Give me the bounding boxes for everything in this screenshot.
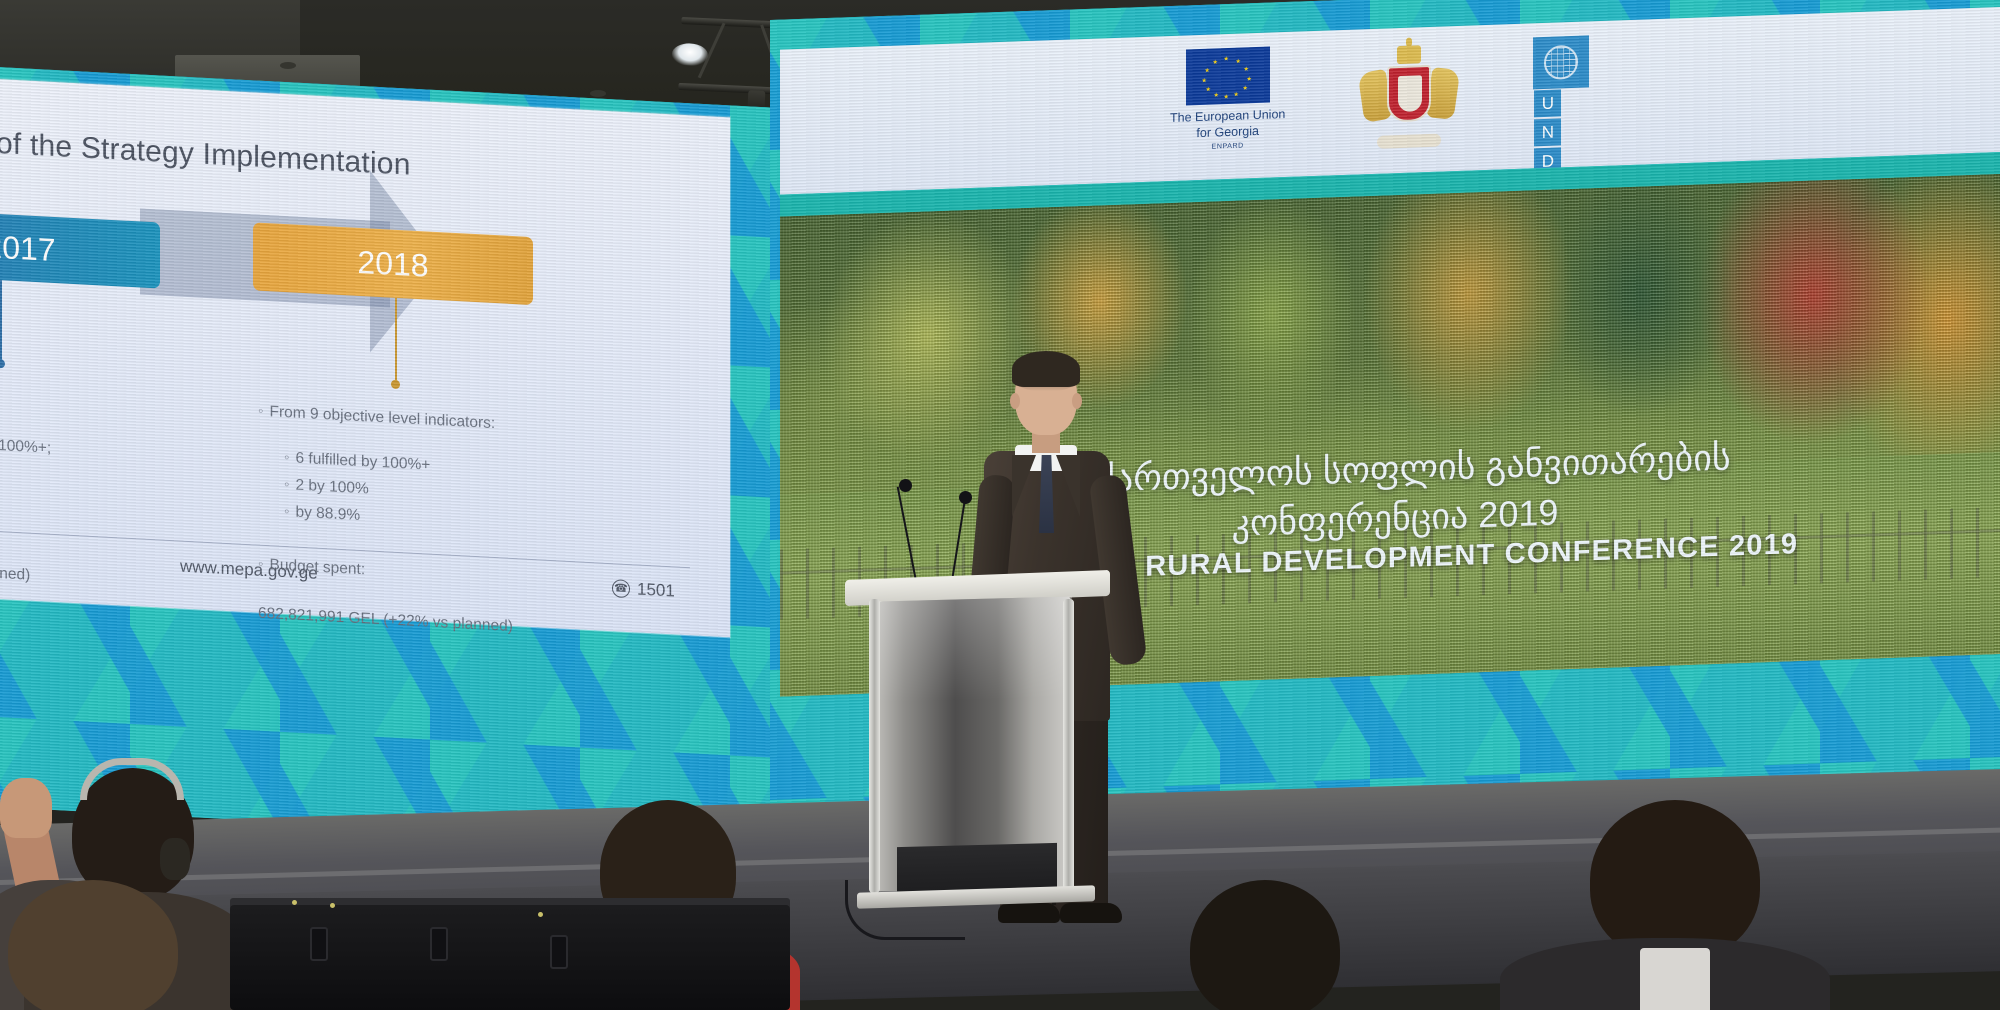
podium-cable (845, 880, 965, 940)
hotline: ☎ 1501 (612, 578, 675, 601)
connector-dot-2018 (391, 380, 400, 389)
microphone-head-left (899, 479, 912, 492)
console-indicator-icon (292, 900, 297, 905)
year-label-2018: 2018 (357, 243, 428, 284)
list-item: From 9 objective level indicators: (258, 398, 638, 445)
head (1190, 880, 1340, 1010)
console-clip (310, 927, 328, 961)
connector-dot-2017 (0, 359, 5, 368)
head (8, 880, 178, 1010)
head (1590, 800, 1760, 960)
ear-left (1010, 393, 1020, 409)
enpard-label: ENPARD (1170, 141, 1285, 152)
suit-lapel-left (1012, 455, 1036, 517)
podium-rail-right (1063, 599, 1074, 893)
connector-line-2017 (0, 280, 2, 362)
speaker-hair (1012, 351, 1080, 387)
list-item: r level indicators: (0, 380, 165, 423)
console-indicator-icon (330, 903, 335, 908)
microphone-head-right (959, 491, 972, 504)
presentation-slide-left: ults of the Strategy Implementation 2017… (0, 76, 730, 637)
collar (1640, 948, 1710, 1010)
conference-photo: ults of the Strategy Implementation 2017… (0, 0, 2000, 1010)
year-label-2017: 2017 (0, 228, 56, 269)
slide-column-right: From 9 objective level indicators: 6 ful… (258, 398, 638, 647)
year-band-2017: 2017 (0, 208, 160, 289)
hotline-number: 1501 (637, 580, 675, 602)
slide-title: ults of the Strategy Implementation (0, 124, 640, 195)
control-console (230, 905, 790, 1010)
un-globe-icon (1533, 35, 1589, 89)
budget-value-left: EL (+38.3% vs planned) (0, 553, 165, 596)
console-indicator-icon (538, 912, 543, 917)
undp-letter: N (1534, 118, 1561, 146)
console-clip (550, 935, 568, 969)
raised-hand (0, 778, 52, 838)
phone-icon: ☎ (612, 579, 630, 598)
suit-lapel-right (1056, 455, 1080, 517)
slide-column-left: r level indicators: d by 100% or 100%+; … (0, 380, 165, 595)
headset-earcup (160, 838, 190, 880)
led-panel-left: ults of the Strategy Implementation 2017… (0, 66, 780, 848)
podium-rail-left (869, 599, 880, 893)
connector-line-2018 (395, 298, 397, 382)
console-clip (430, 927, 448, 961)
undp-letter: U (1534, 89, 1561, 117)
eu-flag-logo: The European Union for Georgia ENPARD (1170, 46, 1285, 152)
ear-right (1072, 393, 1082, 409)
georgia-coat-of-arms-icon (1353, 40, 1465, 156)
eu-flag-icon (1186, 47, 1270, 106)
